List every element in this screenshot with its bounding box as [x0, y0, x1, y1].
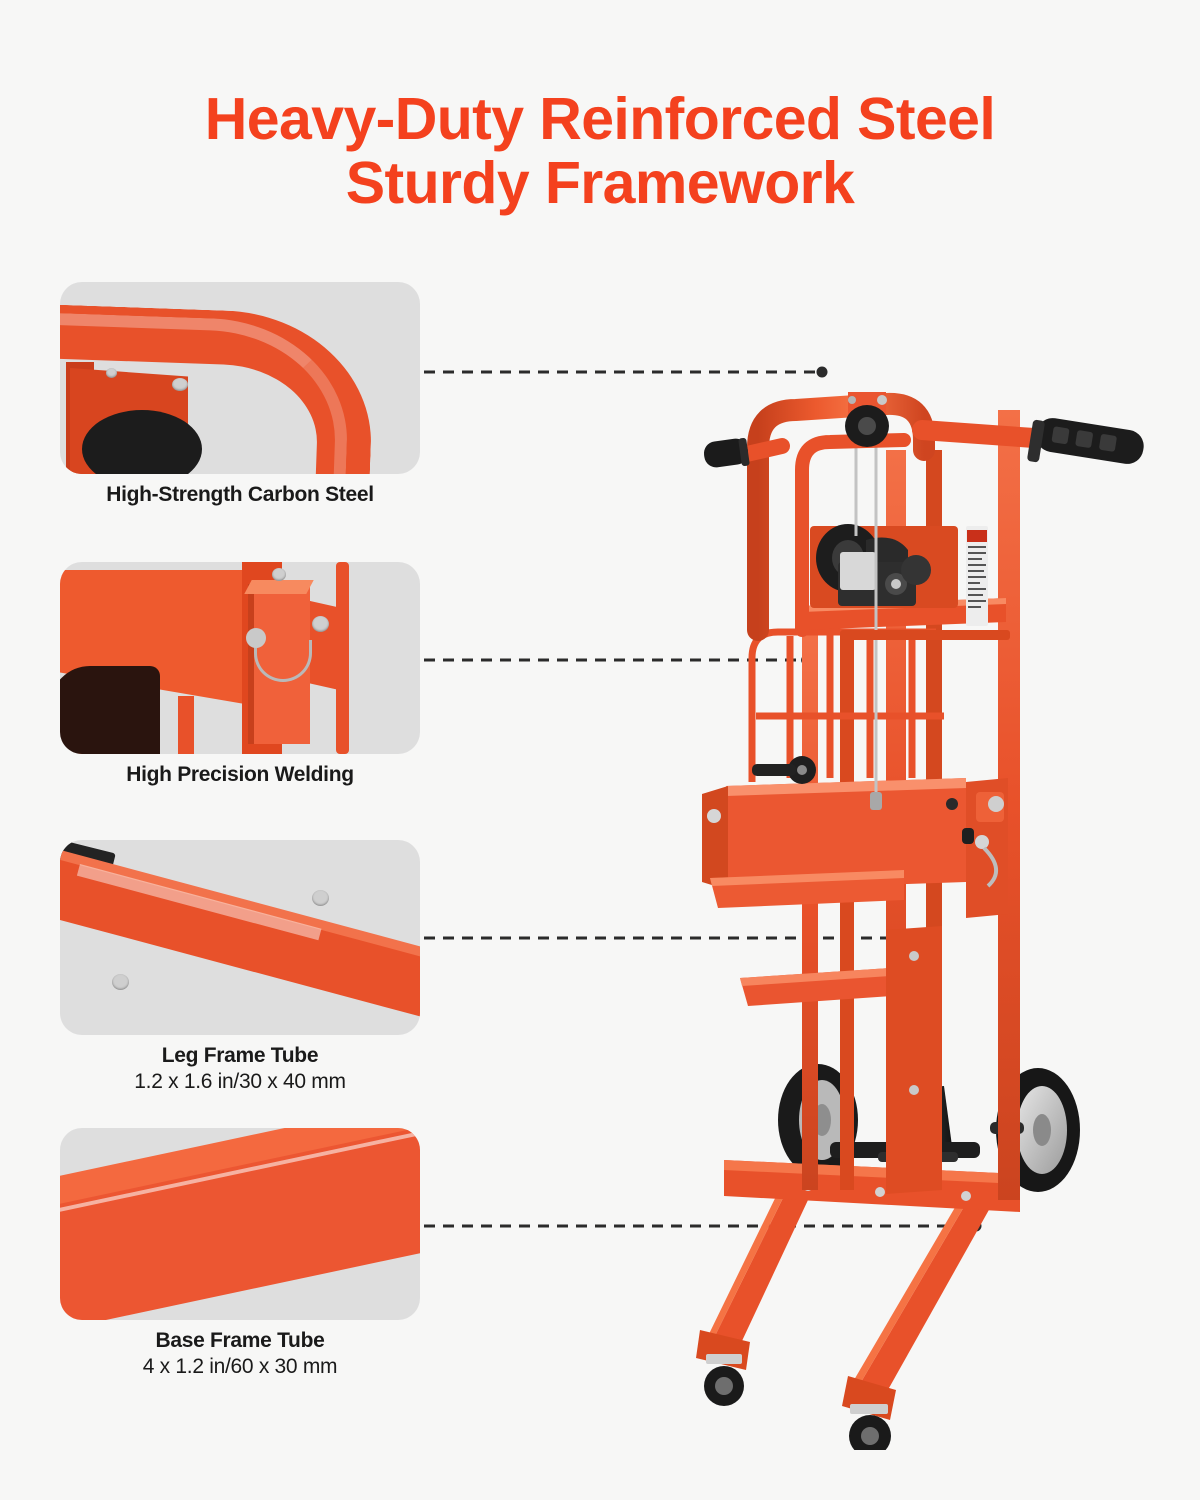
- page-title: Heavy-Duty Reinforced Steel Sturdy Frame…: [0, 88, 1200, 215]
- callout-leg-frame-tube: Leg Frame Tube 1.2 x 1.6 in/30 x 40 mm: [60, 840, 420, 1094]
- base-frame-tube: [724, 1160, 1020, 1212]
- callout-1-label: High-Strength Carbon Steel: [60, 483, 420, 507]
- locking-pin: [246, 628, 266, 648]
- outrigger-leg-left: [696, 1184, 808, 1406]
- cable-end-fitting: [870, 792, 882, 810]
- rubber-grip-left: [702, 437, 750, 469]
- rubber-grip-right: [1027, 416, 1146, 466]
- callout-4-thumbnail: [60, 1128, 420, 1320]
- title-line-2: Sturdy Framework: [0, 152, 1200, 216]
- product-illustration: [690, 330, 1190, 1450]
- warning-label: [966, 526, 988, 626]
- bolt-icon: [106, 368, 117, 378]
- swivel-caster-right: [849, 1404, 891, 1450]
- mast-lower-shroud: [886, 926, 942, 1194]
- bolt-icon: [312, 890, 329, 906]
- swivel-caster-left: [704, 1354, 744, 1406]
- panel-leg: [178, 696, 194, 754]
- callout-2-caption: High Precision Welding: [60, 763, 420, 787]
- callout-2-label: High Precision Welding: [60, 763, 420, 787]
- title-line-1: Heavy-Duty Reinforced Steel: [0, 88, 1200, 152]
- carriage-latch: [962, 778, 1008, 918]
- callout-1-thumbnail: [60, 282, 420, 474]
- callout-4-caption: Base Frame Tube 4 x 1.2 in/60 x 30 mm: [60, 1329, 420, 1379]
- mast-cross-brace: [840, 630, 1010, 640]
- callout-1-caption: High-Strength Carbon Steel: [60, 483, 420, 507]
- callout-3-thumbnail: [60, 840, 420, 1035]
- callout-3-caption: Leg Frame Tube 1.2 x 1.6 in/30 x 40 mm: [60, 1044, 420, 1094]
- hand-winch: [810, 524, 958, 608]
- bracket-top-face: [244, 580, 313, 594]
- callout-4-label: Base Frame Tube: [60, 1329, 420, 1353]
- top-pulley: [845, 392, 889, 447]
- tire-shape: [60, 666, 160, 754]
- callout-high-precision-welding: High Precision Welding: [60, 562, 420, 787]
- callout-base-frame-tube: Base Frame Tube 4 x 1.2 in/60 x 30 mm: [60, 1128, 420, 1379]
- callout-2-thumbnail: [60, 562, 420, 754]
- bolt-icon: [112, 974, 129, 990]
- callout-3-sublabel: 1.2 x 1.6 in/30 x 40 mm: [60, 1070, 420, 1094]
- vertical-rail: [336, 562, 349, 754]
- outrigger-leg-right: [842, 1192, 990, 1450]
- callout-4-sublabel: 4 x 1.2 in/60 x 30 mm: [60, 1355, 420, 1379]
- bolt-icon: [172, 378, 188, 391]
- callout-high-strength-carbon-steel: High-Strength Carbon Steel: [60, 282, 420, 507]
- bolt-icon: [312, 616, 329, 632]
- bolt-icon: [272, 568, 286, 581]
- callout-3-label: Leg Frame Tube: [60, 1044, 420, 1068]
